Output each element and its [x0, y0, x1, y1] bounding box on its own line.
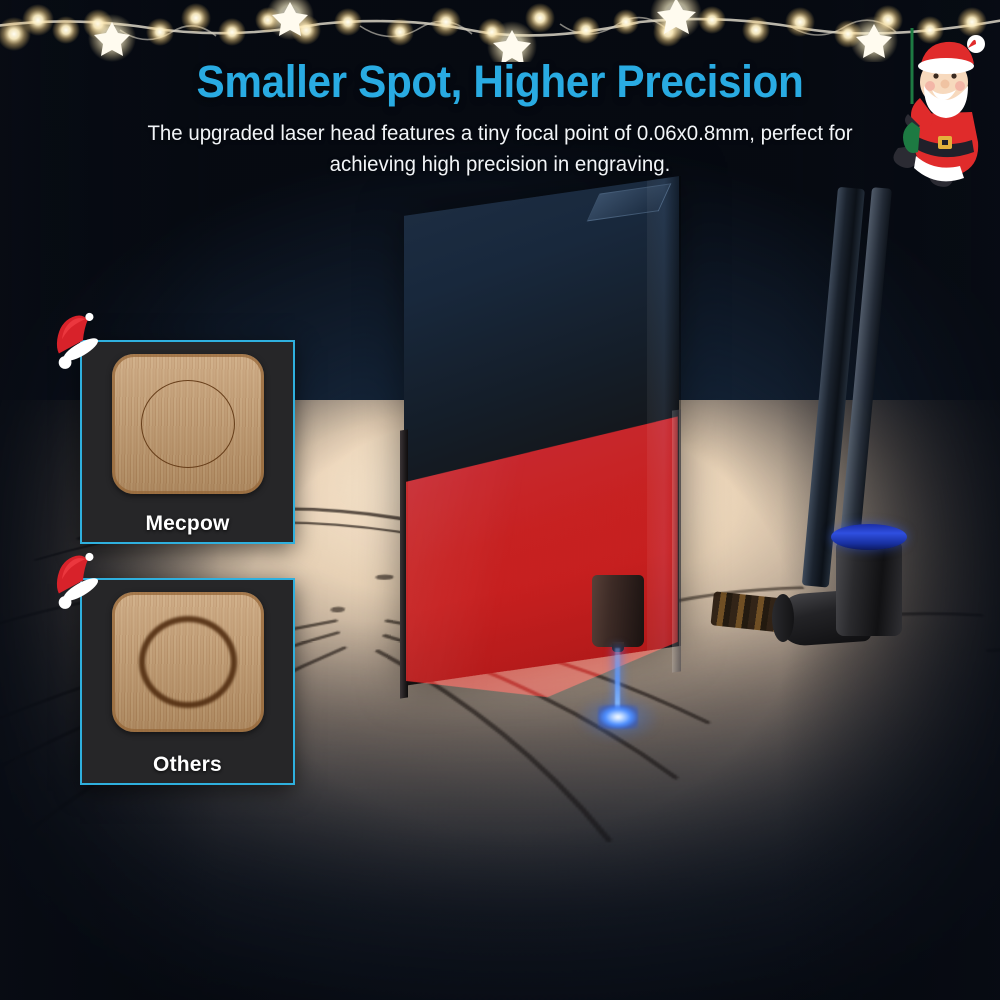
- christmas-fairy-lights: [0, 0, 1000, 62]
- engraved-circle-thin: [141, 380, 235, 468]
- shield-right-edge: [672, 409, 681, 672]
- page-subtitle: The upgraded laser head features a tiny …: [139, 118, 861, 180]
- air-assist-elbow-cap: [772, 594, 794, 642]
- air-assist-fitting: [836, 540, 902, 636]
- air-assist-blue-collar: [831, 524, 907, 550]
- santa-claus-ornament: [876, 28, 996, 188]
- wood-swatch-mecpow: [112, 354, 264, 494]
- comparison-panel-mecpow[interactable]: Mecpow: [80, 340, 295, 544]
- comparison-label-mecpow: Mecpow: [82, 512, 293, 536]
- engraved-circle-thick: [139, 616, 237, 708]
- promo-image: Mecpow Others Smaller Spot, Higher Preci…: [0, 0, 1000, 1000]
- page-title: Smaller Spot, Higher Precision: [30, 56, 970, 108]
- laser-focal-point: [598, 705, 638, 729]
- comparison-label-others: Others: [82, 753, 293, 777]
- comparison-panel-others[interactable]: Others: [80, 578, 295, 785]
- laser-nozzle: [592, 575, 644, 647]
- wood-swatch-others: [112, 592, 264, 732]
